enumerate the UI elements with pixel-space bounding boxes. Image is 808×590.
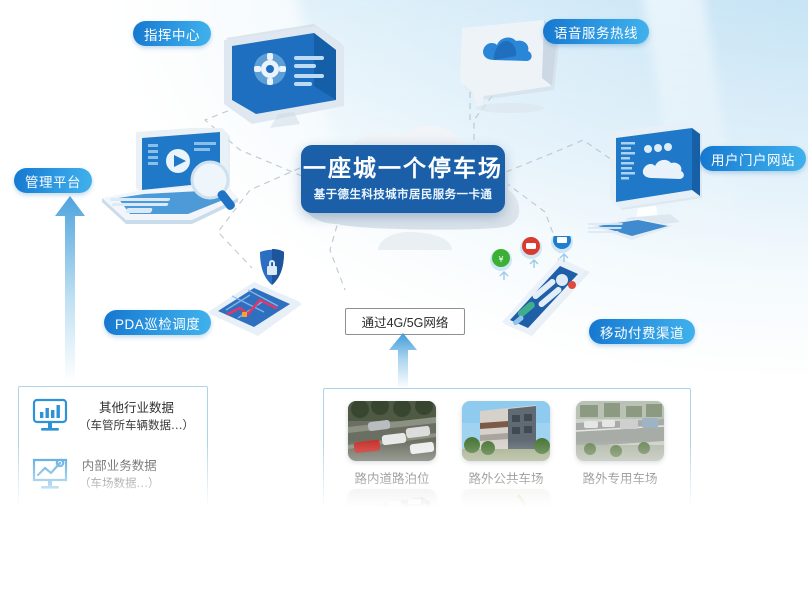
badge-pda-patrol-label: PDA巡检调度 (115, 313, 200, 333)
card-pay-icon (520, 237, 542, 259)
monitor-bar-chart-icon (27, 395, 73, 437)
background-bottom-fade (0, 440, 808, 590)
wechat-pay-icon: ¥ (490, 249, 512, 271)
data-source-title-0: 其他行业数据 (99, 399, 174, 417)
hero-title: 一座城一个停车场 (303, 156, 503, 181)
network-arrow-up-icon (385, 333, 421, 389)
badge-command-center[interactable]: 指挥中心 (133, 21, 211, 46)
badge-user-portal[interactable]: 用户门户网站 (700, 146, 806, 171)
bank-pay-icon (551, 236, 573, 253)
badge-mgmt-platform[interactable]: 管理平台 (14, 168, 92, 193)
laptop-icon (82, 128, 244, 238)
badge-command-center-label: 指挥中心 (144, 24, 200, 44)
desktop-monitor-icon (588, 122, 728, 246)
badge-mobile-pay[interactable]: 移动付费渠道 (589, 319, 695, 344)
badge-mgmt-platform-label: 管理平台 (25, 171, 81, 191)
tablet-shield-icon (204, 248, 314, 342)
data-source-note-0: （车管所车辆数据…） (79, 417, 194, 434)
svg-text:¥: ¥ (498, 255, 503, 264)
badge-voice-hotline-label: 语音服务热线 (554, 22, 638, 42)
monitor-gear-icon (218, 20, 348, 132)
network-label: 通过4G/5G网络 (362, 312, 449, 331)
infographic-canvas: 一座城一个停车场 基于德生科技城市居民服务一卡通 指挥中心 语音服务 (0, 0, 808, 590)
hero-subtitle: 基于德生科技城市居民服务一卡通 (314, 186, 493, 202)
data-source-item-0: 其他行业数据 （车管所车辆数据…） (27, 395, 199, 437)
badge-voice-hotline[interactable]: 语音服务热线 (543, 19, 649, 44)
hero-banner: 一座城一个停车场 基于德生科技城市居民服务一卡通 (301, 145, 505, 213)
badge-pda-patrol[interactable]: PDA巡检调度 (104, 310, 211, 335)
badge-user-portal-label: 用户门户网站 (711, 149, 795, 169)
network-label-box: 通过4G/5G网络 (345, 308, 465, 335)
data-panel-arrow-up-icon (51, 196, 89, 382)
badge-mobile-pay-label: 移动付费渠道 (600, 322, 684, 342)
